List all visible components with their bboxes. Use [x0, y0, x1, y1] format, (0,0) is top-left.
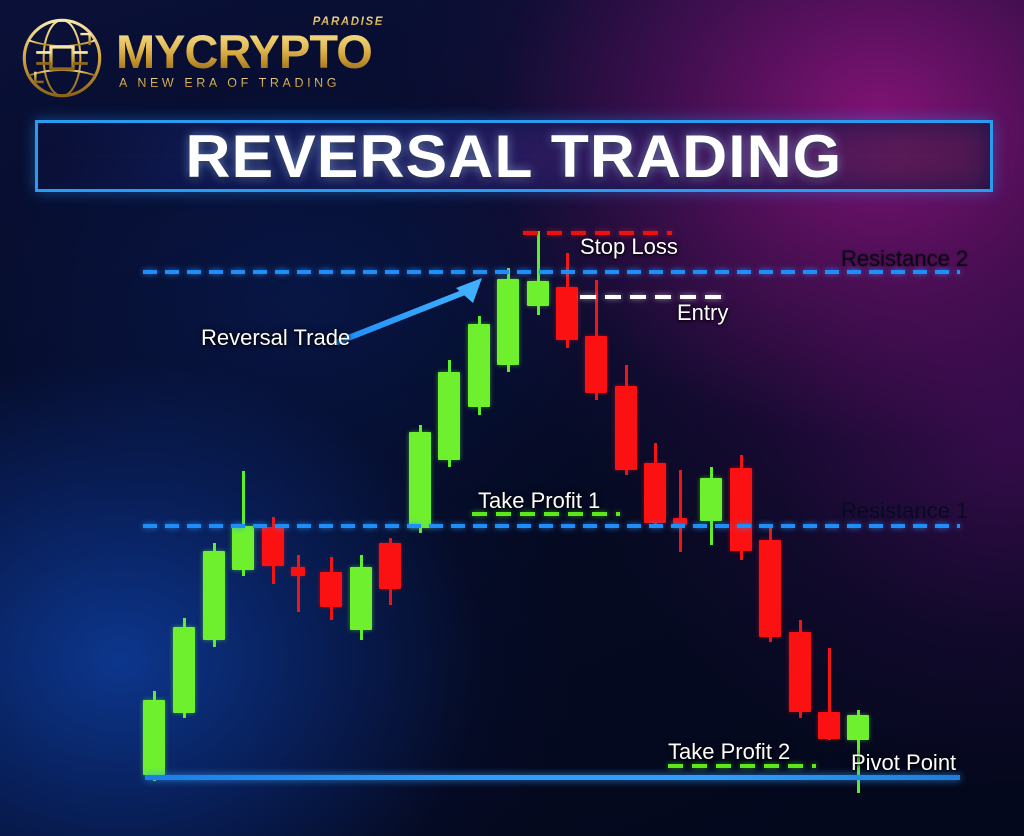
resistance-2-label: Resistance 2 [841, 246, 968, 272]
candle-body [759, 540, 781, 637]
take-profit-2-label: Take Profit 2 [668, 739, 790, 765]
stop-loss-label: Stop Loss [580, 234, 678, 260]
candle-2 [173, 618, 195, 718]
entry-line [580, 295, 727, 299]
candle-body [789, 632, 811, 712]
candle-9 [379, 538, 401, 605]
candle-body [203, 551, 225, 640]
candle-body [438, 372, 460, 460]
candle-body [320, 572, 342, 607]
candle-17 [615, 365, 637, 475]
candle-body [350, 567, 372, 630]
candle-wick [297, 555, 300, 612]
entry-label: Entry [677, 300, 728, 326]
candle-body [847, 715, 869, 740]
take-profit-1-line [472, 512, 620, 516]
resistance-1-label: Resistance 1 [841, 498, 968, 524]
candle-body [556, 287, 578, 340]
candle-body [818, 712, 840, 739]
candle-10 [409, 425, 431, 533]
arrow-up-right-icon [330, 270, 500, 350]
candle-body [262, 527, 284, 566]
candle-body [497, 279, 519, 365]
candlestick-chart: Resistance 2 Resistance 1 Stop Loss Entr… [0, 0, 1024, 836]
candle-7 [320, 557, 342, 620]
candle-body [232, 526, 254, 570]
candle-body [730, 468, 752, 551]
candle-19 [673, 470, 687, 552]
candle-wick [679, 470, 682, 552]
candle-21 [730, 455, 752, 560]
candle-body [173, 627, 195, 713]
pivot-point-label: Pivot Point [851, 750, 956, 776]
take-profit-2-line [668, 764, 816, 768]
candle-11 [438, 360, 460, 467]
candle-22 [759, 527, 781, 642]
take-profit-1-label: Take Profit 1 [478, 488, 600, 514]
candle-body [143, 700, 165, 775]
candle-6 [291, 555, 305, 612]
resistance-1-line [143, 524, 960, 528]
candle-20 [700, 467, 722, 545]
candle-body [527, 281, 549, 306]
candle-13 [497, 268, 519, 372]
candle-body [409, 432, 431, 528]
candle-24 [818, 648, 840, 740]
candle-body [291, 567, 305, 576]
reversal-trade-label: Reversal Trade [201, 325, 350, 351]
candle-body [379, 543, 401, 589]
candle-body [585, 336, 607, 393]
candle-body [700, 478, 722, 521]
candle-body [644, 463, 666, 523]
candle-18 [644, 443, 666, 528]
pivot-point-line [145, 775, 960, 780]
candle-body [615, 386, 637, 470]
infographic-canvas: PARADISE MYCRYPTO A NEW ERA OF TRADING R… [0, 0, 1024, 836]
candle-23 [789, 620, 811, 718]
candle-15 [556, 253, 578, 348]
resistance-2-line [143, 270, 960, 274]
candle-1 [143, 691, 165, 781]
candle-8 [350, 555, 372, 640]
candle-3 [203, 543, 225, 647]
